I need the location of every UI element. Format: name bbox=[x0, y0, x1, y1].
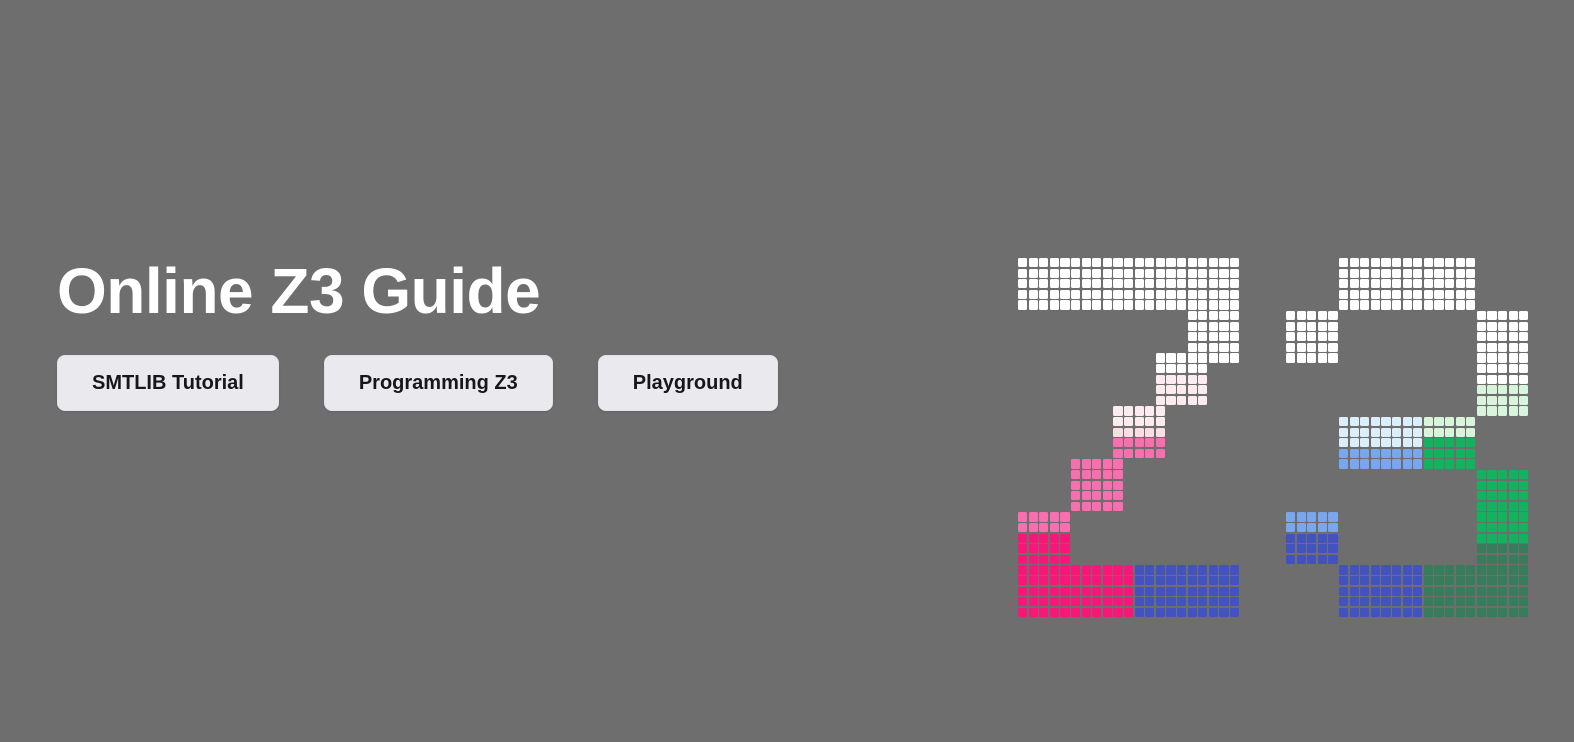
logo-pixel bbox=[1230, 332, 1239, 341]
logo-pixel bbox=[1350, 576, 1359, 585]
logo-pixel bbox=[1135, 428, 1144, 437]
logo-pixel bbox=[1092, 576, 1101, 585]
logo-pixel bbox=[1060, 576, 1069, 585]
logo-pixel bbox=[1177, 396, 1186, 405]
logo-pixel bbox=[1209, 332, 1218, 341]
logo-pixel bbox=[1156, 597, 1165, 606]
logo-pixel bbox=[1445, 269, 1454, 278]
logo-pixel bbox=[1113, 300, 1122, 309]
logo-pixel bbox=[1135, 565, 1144, 574]
logo-pixel bbox=[1156, 396, 1165, 405]
logo-pixel bbox=[1360, 417, 1369, 426]
logo-pixel bbox=[1487, 502, 1496, 511]
logo-pixel bbox=[1456, 279, 1465, 288]
logo-pixel bbox=[1519, 481, 1528, 490]
logo-pixel bbox=[1156, 608, 1165, 617]
logo-pixel bbox=[1403, 428, 1412, 437]
logo-pixel bbox=[1456, 587, 1465, 596]
logo-pixel bbox=[1156, 576, 1165, 585]
logo-pixel bbox=[1082, 576, 1091, 585]
logo-pixel bbox=[1466, 576, 1475, 585]
logo-pixel bbox=[1498, 353, 1507, 362]
logo-pixel bbox=[1498, 343, 1507, 352]
logo-pixel bbox=[1135, 417, 1144, 426]
logo-pixel bbox=[1498, 332, 1507, 341]
logo-pixel bbox=[1424, 258, 1433, 267]
logo-pixel bbox=[1413, 597, 1422, 606]
logo-pixel bbox=[1092, 565, 1101, 574]
logo-pixel bbox=[1029, 565, 1038, 574]
playground-button[interactable]: Playground bbox=[598, 355, 778, 411]
logo-pixel bbox=[1198, 565, 1207, 574]
logo-pixel bbox=[1498, 396, 1507, 405]
logo-pixel bbox=[1456, 576, 1465, 585]
logo-pixel bbox=[1392, 597, 1401, 606]
logo-pixel bbox=[1156, 428, 1165, 437]
logo-pixel bbox=[1498, 512, 1507, 521]
logo-pixel bbox=[1487, 608, 1496, 617]
logo-pixel bbox=[1413, 459, 1422, 468]
logo-pixel bbox=[1339, 608, 1348, 617]
logo-pixel bbox=[1113, 576, 1122, 585]
logo-pixel bbox=[1434, 428, 1443, 437]
logo-pixel bbox=[1466, 279, 1475, 288]
logo-pixel bbox=[1339, 258, 1348, 267]
logo-pixel bbox=[1403, 459, 1412, 468]
logo-pixel bbox=[1166, 364, 1175, 373]
logo-pixel bbox=[1230, 300, 1239, 309]
logo-pixel bbox=[1307, 322, 1316, 331]
logo-pixel bbox=[1498, 406, 1507, 415]
logo-pixel bbox=[1413, 300, 1422, 309]
logo-pixel bbox=[1498, 608, 1507, 617]
logo-pixel bbox=[1050, 512, 1059, 521]
logo-pixel bbox=[1350, 258, 1359, 267]
logo-pixel bbox=[1018, 565, 1027, 574]
logo-pixel bbox=[1103, 565, 1112, 574]
logo-pixel bbox=[1230, 343, 1239, 352]
logo-pixel bbox=[1509, 608, 1518, 617]
logo-pixel bbox=[1071, 502, 1080, 511]
logo-pixel bbox=[1498, 523, 1507, 532]
logo-pixel bbox=[1050, 587, 1059, 596]
logo-pixel bbox=[1413, 608, 1422, 617]
logo-pixel bbox=[1145, 608, 1154, 617]
logo-pixel bbox=[1328, 343, 1337, 352]
logo-pixel bbox=[1018, 597, 1027, 606]
logo-pixel bbox=[1188, 364, 1197, 373]
logo-pixel bbox=[1509, 565, 1518, 574]
logo-pixel bbox=[1166, 587, 1175, 596]
logo-pixel bbox=[1477, 396, 1486, 405]
logo-pixel bbox=[1392, 438, 1401, 447]
logo-pixel bbox=[1360, 438, 1369, 447]
logo-pixel bbox=[1156, 565, 1165, 574]
logo-pixel bbox=[1209, 608, 1218, 617]
logo-pixel bbox=[1509, 502, 1518, 511]
logo-pixel bbox=[1509, 343, 1518, 352]
logo-pixel bbox=[1434, 290, 1443, 299]
logo-pixel bbox=[1487, 555, 1496, 564]
logo-pixel bbox=[1498, 375, 1507, 384]
logo-pixel bbox=[1297, 311, 1306, 320]
logo-pixel bbox=[1071, 597, 1080, 606]
logo-pixel bbox=[1509, 512, 1518, 521]
logo-pixel bbox=[1328, 534, 1337, 543]
logo-pixel bbox=[1113, 258, 1122, 267]
logo-pixel bbox=[1487, 343, 1496, 352]
logo-pixel bbox=[1392, 608, 1401, 617]
logo-pixel bbox=[1082, 300, 1091, 309]
logo-pixel bbox=[1477, 597, 1486, 606]
logo-pixel bbox=[1498, 544, 1507, 553]
logo-pixel bbox=[1519, 470, 1528, 479]
logo-pixel bbox=[1519, 576, 1528, 585]
logo-pixel bbox=[1166, 608, 1175, 617]
logo-pixel bbox=[1381, 576, 1390, 585]
logo-pixel bbox=[1071, 459, 1080, 468]
logo-pixel bbox=[1050, 523, 1059, 532]
logo-pixel bbox=[1018, 544, 1027, 553]
logo-pixel bbox=[1318, 343, 1327, 352]
logo-pixel bbox=[1230, 269, 1239, 278]
logo-pixel bbox=[1018, 300, 1027, 309]
logo-pixel bbox=[1350, 597, 1359, 606]
logo-pixel bbox=[1371, 565, 1380, 574]
logo-pixel bbox=[1413, 438, 1422, 447]
logo-pixel bbox=[1509, 385, 1518, 394]
logo-pixel bbox=[1509, 576, 1518, 585]
logo-pixel bbox=[1498, 322, 1507, 331]
logo-pixel bbox=[1156, 406, 1165, 415]
logo-pixel bbox=[1424, 576, 1433, 585]
logo-pixel bbox=[1424, 608, 1433, 617]
logo-pixel bbox=[1519, 322, 1528, 331]
logo-pixel bbox=[1509, 481, 1518, 490]
logo-pixel bbox=[1477, 502, 1486, 511]
logo-pixel bbox=[1328, 353, 1337, 362]
logo-pixel bbox=[1509, 597, 1518, 606]
logo-pixel bbox=[1519, 608, 1528, 617]
logo-pixel bbox=[1092, 597, 1101, 606]
logo-pixel bbox=[1103, 269, 1112, 278]
logo-pixel bbox=[1071, 491, 1080, 500]
logo-pixel bbox=[1039, 544, 1048, 553]
logo-pixel bbox=[1318, 512, 1327, 521]
logo-pixel bbox=[1339, 428, 1348, 437]
logo-pixel bbox=[1339, 438, 1348, 447]
logo-pixel bbox=[1198, 608, 1207, 617]
logo-pixel bbox=[1124, 406, 1133, 415]
logo-pixel bbox=[1198, 279, 1207, 288]
logo-pixel bbox=[1103, 279, 1112, 288]
logo-pixel bbox=[1434, 269, 1443, 278]
logo-pixel bbox=[1477, 343, 1486, 352]
logo-pixel bbox=[1124, 258, 1133, 267]
logo-pixel bbox=[1339, 290, 1348, 299]
logo-pixel bbox=[1209, 587, 1218, 596]
logo-pixel bbox=[1509, 322, 1518, 331]
logo-pixel bbox=[1113, 597, 1122, 606]
logo-pixel bbox=[1360, 608, 1369, 617]
logo-pixel bbox=[1466, 269, 1475, 278]
logo-pixel bbox=[1456, 597, 1465, 606]
logo-pixel bbox=[1487, 364, 1496, 373]
logo-pixel bbox=[1103, 576, 1112, 585]
logo-pixel bbox=[1434, 258, 1443, 267]
logo-pixel bbox=[1519, 353, 1528, 362]
logo-pixel bbox=[1188, 300, 1197, 309]
logo-pixel bbox=[1477, 332, 1486, 341]
logo-pixel bbox=[1060, 555, 1069, 564]
logo-pixel bbox=[1039, 555, 1048, 564]
logo-pixel bbox=[1318, 555, 1327, 564]
logo-pixel bbox=[1350, 290, 1359, 299]
logo-pixel bbox=[1071, 290, 1080, 299]
logo-pixel bbox=[1018, 258, 1027, 267]
logo-pixel bbox=[1124, 565, 1133, 574]
logo-pixel bbox=[1498, 481, 1507, 490]
logo-pixel bbox=[1082, 459, 1091, 468]
logo-pixel bbox=[1198, 576, 1207, 585]
logo-pixel bbox=[1135, 587, 1144, 596]
logo-pixel bbox=[1487, 375, 1496, 384]
logo-pixel bbox=[1188, 608, 1197, 617]
logo-pixel bbox=[1297, 343, 1306, 352]
logo-pixel bbox=[1113, 438, 1122, 447]
logo-pixel bbox=[1466, 417, 1475, 426]
logo-pixel bbox=[1113, 502, 1122, 511]
logo-pixel bbox=[1413, 279, 1422, 288]
logo-pixel bbox=[1209, 343, 1218, 352]
logo-pixel bbox=[1113, 417, 1122, 426]
logo-pixel bbox=[1297, 555, 1306, 564]
logo-pixel bbox=[1092, 290, 1101, 299]
logo-pixel bbox=[1177, 300, 1186, 309]
logo-pixel bbox=[1339, 576, 1348, 585]
logo-pixel bbox=[1424, 438, 1433, 447]
logo-pixel bbox=[1339, 565, 1348, 574]
logo-pixel bbox=[1198, 353, 1207, 362]
logo-pixel bbox=[1029, 534, 1038, 543]
logo-pixel bbox=[1360, 565, 1369, 574]
smtlib-tutorial-button[interactable]: SMTLIB Tutorial bbox=[57, 355, 279, 411]
logo-pixel bbox=[1286, 523, 1295, 532]
logo-pixel bbox=[1413, 290, 1422, 299]
logo-pixel bbox=[1487, 565, 1496, 574]
logo-pixel bbox=[1519, 375, 1528, 384]
logo-pixel bbox=[1392, 417, 1401, 426]
logo-pixel bbox=[1230, 565, 1239, 574]
logo-pixel bbox=[1050, 279, 1059, 288]
logo-pixel bbox=[1519, 406, 1528, 415]
logo-pixel bbox=[1082, 470, 1091, 479]
logo-pixel bbox=[1381, 279, 1390, 288]
logo-pixel bbox=[1177, 375, 1186, 384]
logo-pixel bbox=[1156, 375, 1165, 384]
logo-pixel bbox=[1029, 576, 1038, 585]
logo-pixel bbox=[1209, 565, 1218, 574]
logo-pixel bbox=[1060, 597, 1069, 606]
logo-pixel bbox=[1039, 523, 1048, 532]
logo-pixel bbox=[1177, 597, 1186, 606]
logo-pixel bbox=[1018, 279, 1027, 288]
logo-pixel bbox=[1198, 364, 1207, 373]
logo-pixel bbox=[1156, 438, 1165, 447]
logo-pixel bbox=[1060, 512, 1069, 521]
logo-pixel bbox=[1307, 544, 1316, 553]
logo-pixel bbox=[1113, 290, 1122, 299]
logo-pixel bbox=[1209, 290, 1218, 299]
logo-pixel bbox=[1371, 587, 1380, 596]
logo-pixel bbox=[1113, 491, 1122, 500]
logo-pixel bbox=[1092, 279, 1101, 288]
logo-pixel bbox=[1166, 396, 1175, 405]
programming-z3-button[interactable]: Programming Z3 bbox=[324, 355, 553, 411]
logo-pixel bbox=[1177, 587, 1186, 596]
logo-pixel bbox=[1350, 300, 1359, 309]
logo-pixel bbox=[1219, 608, 1228, 617]
logo-pixel bbox=[1498, 364, 1507, 373]
logo-pixel bbox=[1029, 512, 1038, 521]
logo-pixel bbox=[1328, 523, 1337, 532]
logo-pixel bbox=[1456, 438, 1465, 447]
logo-pixel bbox=[1188, 396, 1197, 405]
logo-pixel bbox=[1071, 565, 1080, 574]
logo-pixel bbox=[1487, 353, 1496, 362]
logo-pixel bbox=[1371, 428, 1380, 437]
logo-pixel bbox=[1209, 269, 1218, 278]
logo-pixel bbox=[1445, 565, 1454, 574]
logo-pixel bbox=[1092, 470, 1101, 479]
logo-pixel bbox=[1519, 343, 1528, 352]
logo-pixel bbox=[1371, 449, 1380, 458]
logo-pixel bbox=[1392, 576, 1401, 585]
logo-pixel bbox=[1498, 491, 1507, 500]
logo-pixel bbox=[1071, 269, 1080, 278]
logo-pixel bbox=[1371, 417, 1380, 426]
logo-pixel bbox=[1339, 597, 1348, 606]
logo-pixel bbox=[1350, 428, 1359, 437]
logo-pixel bbox=[1209, 311, 1218, 320]
logo-pixel bbox=[1360, 459, 1369, 468]
logo-pixel bbox=[1092, 502, 1101, 511]
logo-pixel bbox=[1219, 269, 1228, 278]
logo-pixel bbox=[1371, 279, 1380, 288]
logo-pixel bbox=[1328, 332, 1337, 341]
logo-pixel bbox=[1477, 353, 1486, 362]
logo-pixel bbox=[1509, 470, 1518, 479]
logo-pixel bbox=[1360, 300, 1369, 309]
logo-pixel bbox=[1381, 300, 1390, 309]
logo-pixel bbox=[1209, 258, 1218, 267]
logo-pixel bbox=[1113, 428, 1122, 437]
logo-pixel bbox=[1029, 608, 1038, 617]
logo-pixel bbox=[1082, 290, 1091, 299]
logo-pixel bbox=[1060, 279, 1069, 288]
logo-pixel bbox=[1124, 428, 1133, 437]
logo-pixel bbox=[1318, 332, 1327, 341]
logo-pixel bbox=[1135, 449, 1144, 458]
logo-pixel bbox=[1039, 279, 1048, 288]
logo-pixel bbox=[1498, 597, 1507, 606]
logo-pixel bbox=[1230, 311, 1239, 320]
logo-pixel bbox=[1113, 269, 1122, 278]
logo-pixel bbox=[1082, 258, 1091, 267]
logo-pixel bbox=[1487, 481, 1496, 490]
logo-pixel bbox=[1477, 491, 1486, 500]
logo-pixel bbox=[1082, 587, 1091, 596]
logo-pixel bbox=[1392, 449, 1401, 458]
logo-pixel bbox=[1519, 587, 1528, 596]
logo-pixel bbox=[1445, 300, 1454, 309]
logo-pixel bbox=[1219, 322, 1228, 331]
logo-pixel bbox=[1124, 269, 1133, 278]
logo-pixel bbox=[1198, 322, 1207, 331]
logo-pixel bbox=[1156, 300, 1165, 309]
logo-pixel bbox=[1156, 279, 1165, 288]
logo-pixel bbox=[1360, 449, 1369, 458]
logo-pixel bbox=[1071, 481, 1080, 490]
logo-pixel bbox=[1328, 544, 1337, 553]
logo-pixel bbox=[1219, 332, 1228, 341]
logo-pixel bbox=[1403, 300, 1412, 309]
logo-pixel bbox=[1297, 353, 1306, 362]
logo-pixel bbox=[1381, 438, 1390, 447]
logo-pixel bbox=[1519, 311, 1528, 320]
logo-pixel bbox=[1413, 565, 1422, 574]
logo-pixel bbox=[1477, 523, 1486, 532]
logo-pixel bbox=[1434, 449, 1443, 458]
logo-pixel bbox=[1307, 343, 1316, 352]
logo-pixel bbox=[1166, 385, 1175, 394]
logo-pixel bbox=[1487, 512, 1496, 521]
logo-pixel bbox=[1050, 555, 1059, 564]
logo-pixel bbox=[1029, 544, 1038, 553]
logo-pixel bbox=[1219, 587, 1228, 596]
logo-glyph-three bbox=[1286, 258, 1521, 588]
logo-pixel bbox=[1188, 343, 1197, 352]
logo-pixel bbox=[1477, 470, 1486, 479]
logo-pixel bbox=[1413, 258, 1422, 267]
logo-pixel bbox=[1434, 565, 1443, 574]
logo-pixel bbox=[1177, 608, 1186, 617]
hero-text-column: Online Z3 Guide SMTLIB Tutorial Programm… bbox=[57, 258, 957, 411]
logo-pixel bbox=[1156, 290, 1165, 299]
logo-pixel bbox=[1487, 311, 1496, 320]
logo-pixel bbox=[1156, 364, 1165, 373]
logo-pixel bbox=[1230, 608, 1239, 617]
logo-pixel bbox=[1103, 608, 1112, 617]
logo-pixel bbox=[1339, 417, 1348, 426]
logo-pixel bbox=[1092, 459, 1101, 468]
logo-pixel bbox=[1230, 322, 1239, 331]
logo-pixel bbox=[1445, 608, 1454, 617]
logo-pixel bbox=[1424, 449, 1433, 458]
logo-pixel bbox=[1198, 300, 1207, 309]
logo-pixel bbox=[1286, 353, 1295, 362]
logo-pixel bbox=[1509, 523, 1518, 532]
logo-pixel bbox=[1477, 481, 1486, 490]
logo-pixel bbox=[1029, 290, 1038, 299]
logo-pixel bbox=[1177, 279, 1186, 288]
logo-pixel bbox=[1360, 597, 1369, 606]
logo-pixel bbox=[1519, 512, 1528, 521]
logo-pixel bbox=[1230, 576, 1239, 585]
logo-pixel bbox=[1487, 322, 1496, 331]
logo-pixel bbox=[1103, 258, 1112, 267]
logo-pixel bbox=[1466, 597, 1475, 606]
